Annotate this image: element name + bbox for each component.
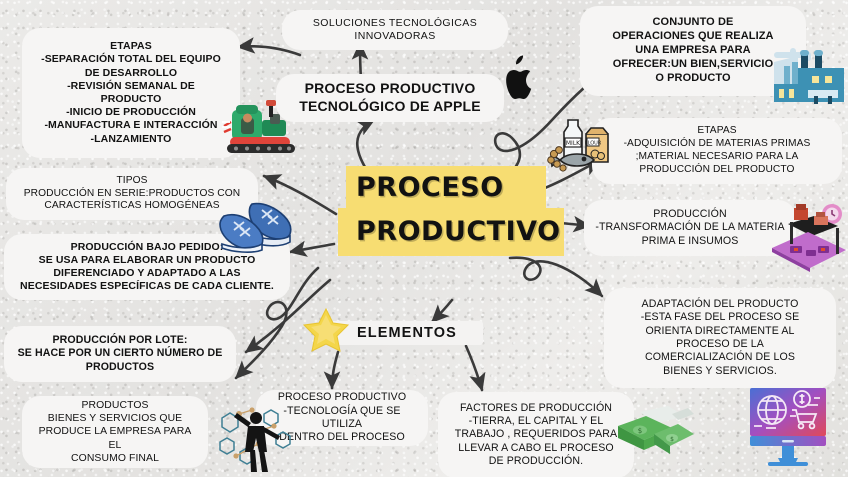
note-line: -REVISIÓN SEMANAL DE <box>31 80 231 93</box>
note-line: TECNOLÓGICO DE APPLE <box>285 98 495 116</box>
svg-text:$: $ <box>638 427 642 435</box>
svg-text:MILK: MILK <box>566 140 581 147</box>
note-line: CONJUNTO DE <box>589 16 797 30</box>
note-line: ORIENTA DIRECTAMENTE AL <box>613 325 827 338</box>
apple-logo-icon <box>492 48 544 108</box>
factores-produccion-note: FACTORES DE PRODUCCIÓN -TIERRA, EL CAPIT… <box>438 392 634 477</box>
note-line: PRODUCE LA EMPRESA PARA EL <box>31 425 199 451</box>
center-title: PROCESOPRODUCTIVO <box>338 166 561 254</box>
note-line: -ESTA FASE DEL PROCESO SE <box>613 311 827 324</box>
note-line: NECESIDADES ESPECÍFICAS DE CADA CLIENTE. <box>13 280 281 293</box>
note-line: -TIERRA, EL CAPITAL Y EL <box>447 415 625 428</box>
note-line: UNA EMPRESA PARA <box>589 44 797 58</box>
svg-text:$: $ <box>670 436 674 443</box>
note-line: PRODUCTO <box>31 93 231 106</box>
factory-icon <box>772 38 848 110</box>
title-text: PROCESOPRODUCTIVO <box>338 166 561 254</box>
note-line: PRODUCTOS <box>31 399 199 412</box>
note-line: TRABAJO , REQUERIDOS PARA <box>447 428 625 441</box>
produccion-transformacion-note: PRODUCCIÓN -TRANSFORMACIÓN DE LA MATERIA… <box>584 200 796 256</box>
note-line: -SEPARACIÓN TOTAL DEL EQUIPO <box>31 53 231 66</box>
note-line: INNOVADORAS <box>291 30 499 43</box>
money-icon: $ $ <box>614 402 696 464</box>
note-line: ;MATERIAL NECESARIO PARA LA <box>601 151 833 164</box>
note-line: COMERCIALIZACIÓN DE LOS <box>613 351 827 364</box>
note-line: PRODUCCIÓN EN SERIE:PRODUCTOS CON <box>15 188 249 201</box>
note-line: PRODUCCIÓN <box>593 208 787 221</box>
note-line: PROCESO DE LA <box>613 338 827 351</box>
note-line: PROCESO PRODUCTIVO <box>285 80 495 98</box>
note-line: TIPOS <box>15 175 249 188</box>
note-line: SE HACE POR UN CIERTO NÚMERO DE <box>13 347 227 360</box>
note-line: ETAPAS <box>601 125 833 138</box>
productos-note: PRODUCTOS BIENES Y SERVICIOS QUE PRODUCE… <box>22 396 208 468</box>
assembly-line-icon <box>768 198 848 272</box>
note-line: CARACTERÍSTICAS HOMOGÉNEAS <box>15 200 249 213</box>
soluciones-note: SOLUCIONES TECNOLÓGICAS INNOVADORAS <box>282 10 508 50</box>
note-line: BIENES Y SERVICIOS QUE <box>31 412 199 425</box>
note-line: O PRODUCTO <box>589 72 797 86</box>
note-line: SOLUCIONES TECNOLÓGICAS <box>291 17 499 30</box>
note-line: -ADQUISICIÓN DE MATERIAS PRIMAS <box>601 138 833 151</box>
note-line: BIENES Y SERVICIOS. <box>613 365 827 378</box>
tractor-harvester-icon <box>222 96 306 158</box>
note-line: DE PRODUCCIÓN. <box>447 455 625 468</box>
elements-label: ELEMENTOS <box>331 321 483 345</box>
etapas-apple-note: ETAPAS -SEPARACIÓN TOTAL DEL EQUIPO DE D… <box>22 28 240 158</box>
note-line: LLEVAR A CABO EL PROCESO <box>447 442 625 455</box>
etapas-materias-note: ETAPAS -ADQUISICIÓN DE MATERIAS PRIMAS ;… <box>592 118 842 184</box>
note-line: -MANUFACTURA E INTERACCIÓN <box>31 119 231 132</box>
adaptacion-producto-note: ADAPTACIÓN DEL PRODUCTO -ESTA FASE DEL P… <box>604 288 836 388</box>
note-line: FACTORES DE PRODUCCIÓN <box>447 402 625 415</box>
note-line: DE DESARROLLO <box>31 67 231 80</box>
note-line: OFRECER:UN BIEN,SERVICIO <box>589 58 797 72</box>
note-line: ETAPAS <box>31 40 231 53</box>
note-line: -INICIO DE PRODUCCIÓN <box>31 106 231 119</box>
note-line: DIFERENCIADO Y ADAPTADO A LAS <box>13 267 281 280</box>
note-line: SE USA PARA ELABORAR UN PRODUCTO <box>13 254 281 267</box>
note-line: CONSUMO FINAL <box>31 452 199 465</box>
proceso-apple-note: PROCESO PRODUCTIVO TECNOLÓGICO DE APPLE <box>276 74 504 122</box>
star-icon <box>303 306 349 352</box>
svg-text:FLOUR: FLOUR <box>585 141 602 147</box>
ecommerce-monitor-icon <box>744 382 832 470</box>
title-line-2: PRODUCTIVO <box>356 216 561 247</box>
note-line: PRIMA E INSUMOS <box>593 235 787 248</box>
note-line: -LANZAMIENTO <box>31 133 231 146</box>
note-line: PRODUCTOS <box>13 361 227 374</box>
scientist-icon <box>218 392 294 474</box>
note-line: PRODUCCIÓN POR LOTE: <box>13 334 227 347</box>
note-line: -TRANSFORMACIÓN DE LA MATERIA <box>593 221 787 234</box>
note-line: OPERACIONES QUE REALIZA <box>589 30 797 44</box>
note-line: ADAPTACIÓN DEL PRODUCTO <box>613 298 827 311</box>
title-line-1: PROCESO <box>356 172 504 203</box>
sneakers-icon <box>218 196 298 254</box>
produccion-por-lote-note: PRODUCCIÓN POR LOTE: SE HACE POR UN CIER… <box>4 326 236 382</box>
note-line: PRODUCCIÓN DEL PRODUCTO <box>601 164 833 177</box>
mindmap-canvas: MILK FLOUR <box>0 0 848 477</box>
